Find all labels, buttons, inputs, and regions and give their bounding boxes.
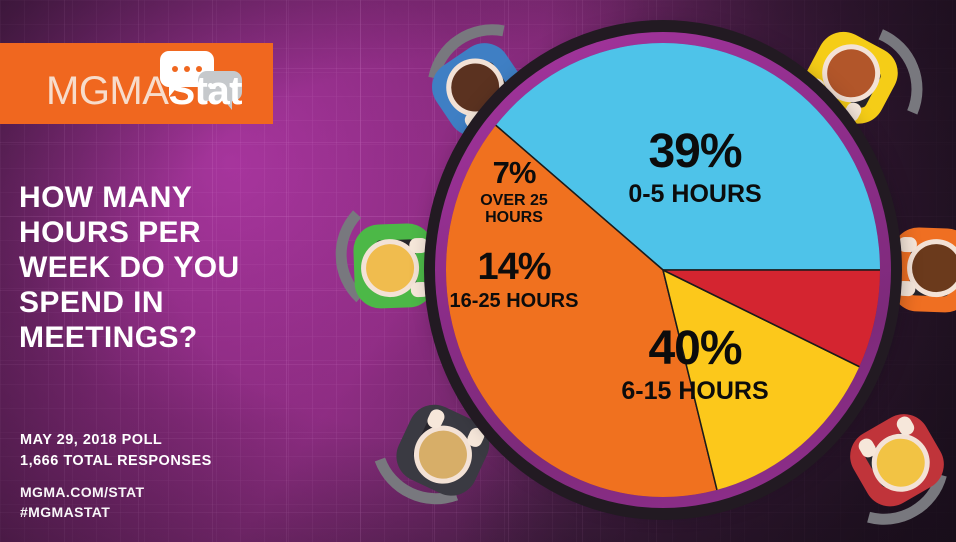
headline-line-1: HOW MANY	[19, 180, 319, 215]
page-title: HOW MANY HOURS PER WEEK DO YOU SPEND IN …	[19, 180, 319, 355]
hashtag[interactable]: #MGMASTAT	[20, 503, 212, 523]
poll-date: MAY 29, 2018 POLL	[20, 430, 212, 451]
headline-line-3: WEEK DO YOU	[19, 250, 319, 285]
mgma-stat-logo: MGMAStat	[0, 43, 273, 124]
conference-table	[408, 12, 918, 530]
website-url[interactable]: MGMA.COM/STAT	[20, 483, 212, 503]
headline-line-2: HOURS PER	[19, 215, 319, 250]
pie-chart-svg	[446, 43, 880, 497]
infographic-canvas: MGMAStat HOW MANY HOURS PER WEEK DO YOU …	[0, 0, 956, 542]
headline-line-5: MEETINGS?	[19, 320, 319, 355]
logo-wordmark: MGMAStat	[46, 71, 242, 111]
footer-block: MAY 29, 2018 POLL 1,666 TOTAL RESPONSES …	[20, 430, 212, 523]
total-responses: 1,666 TOTAL RESPONSES	[20, 451, 212, 472]
logo-mgma-text: MGMA	[46, 69, 168, 113]
headline-line-4: SPEND IN	[19, 285, 319, 320]
logo-stat-text: Stat	[168, 69, 242, 113]
pie-chart	[446, 43, 880, 497]
